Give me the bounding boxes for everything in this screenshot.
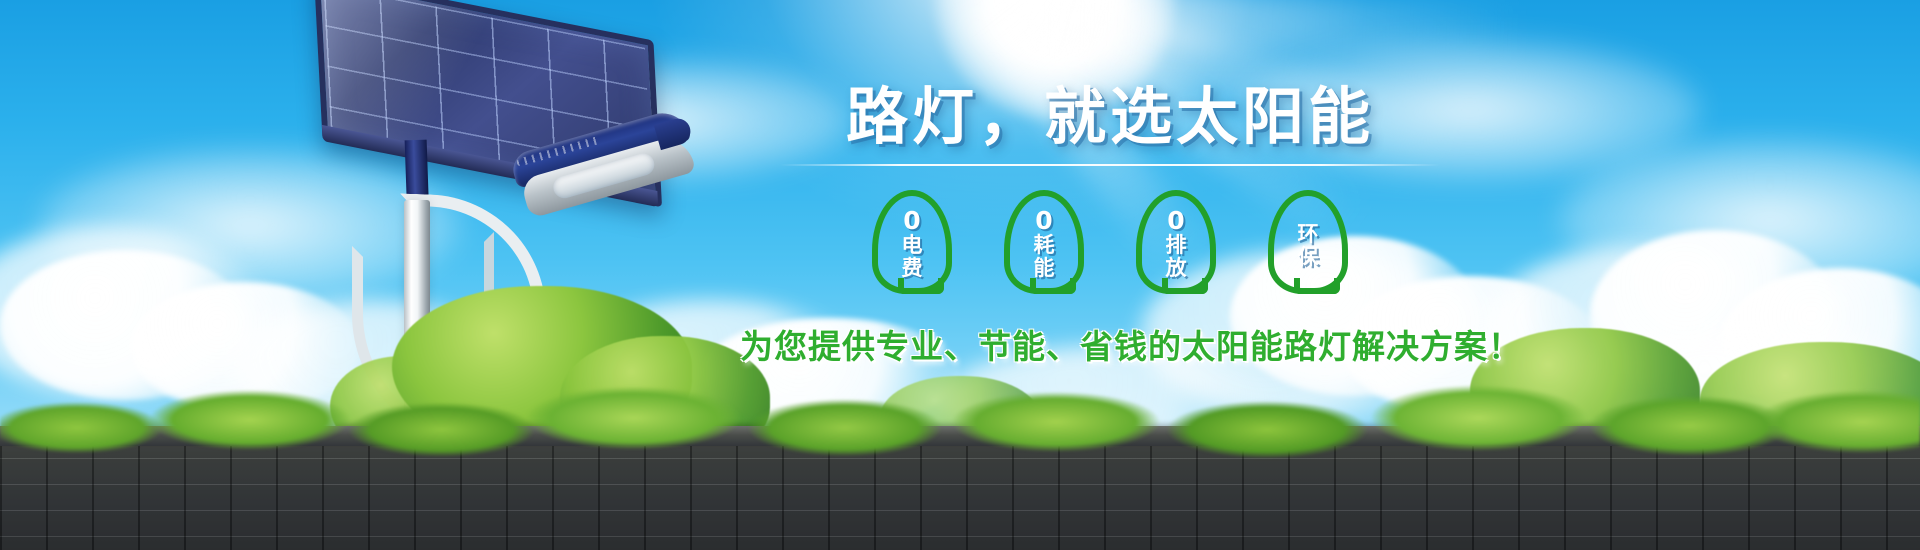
banner-copy: 路灯，就选太阳能 0 电费 0 耗能 0 排放 环保 为您提供	[740, 86, 1480, 368]
feature-badge: 环保	[1262, 190, 1354, 298]
headline-divider	[780, 164, 1440, 166]
badge-label: 电费	[897, 234, 927, 279]
banner-tagline: 为您提供专业、节能、省钱的太阳能路灯解决方案！	[740, 320, 1480, 368]
feature-badge: 0 电费	[866, 190, 958, 298]
feature-badge: 0 排放	[1130, 190, 1222, 298]
badge-zero-value: 0	[1167, 208, 1184, 233]
badge-zero-value: 0	[903, 208, 920, 233]
feature-badge: 0 耗能	[998, 190, 1090, 298]
badge-label: 排放	[1161, 234, 1191, 279]
badge-label: 环保	[1293, 223, 1323, 268]
banner-headline: 路灯，就选太阳能	[740, 86, 1480, 148]
feature-badge-list: 0 电费 0 耗能 0 排放 环保	[740, 190, 1480, 298]
hedge-foliage	[0, 370, 1920, 466]
badge-zero-value: 0	[1035, 208, 1052, 233]
badge-label: 耗能	[1029, 234, 1059, 279]
solar-street-light-banner: 路灯，就选太阳能 0 电费 0 耗能 0 排放 环保 为您提供	[0, 0, 1920, 550]
